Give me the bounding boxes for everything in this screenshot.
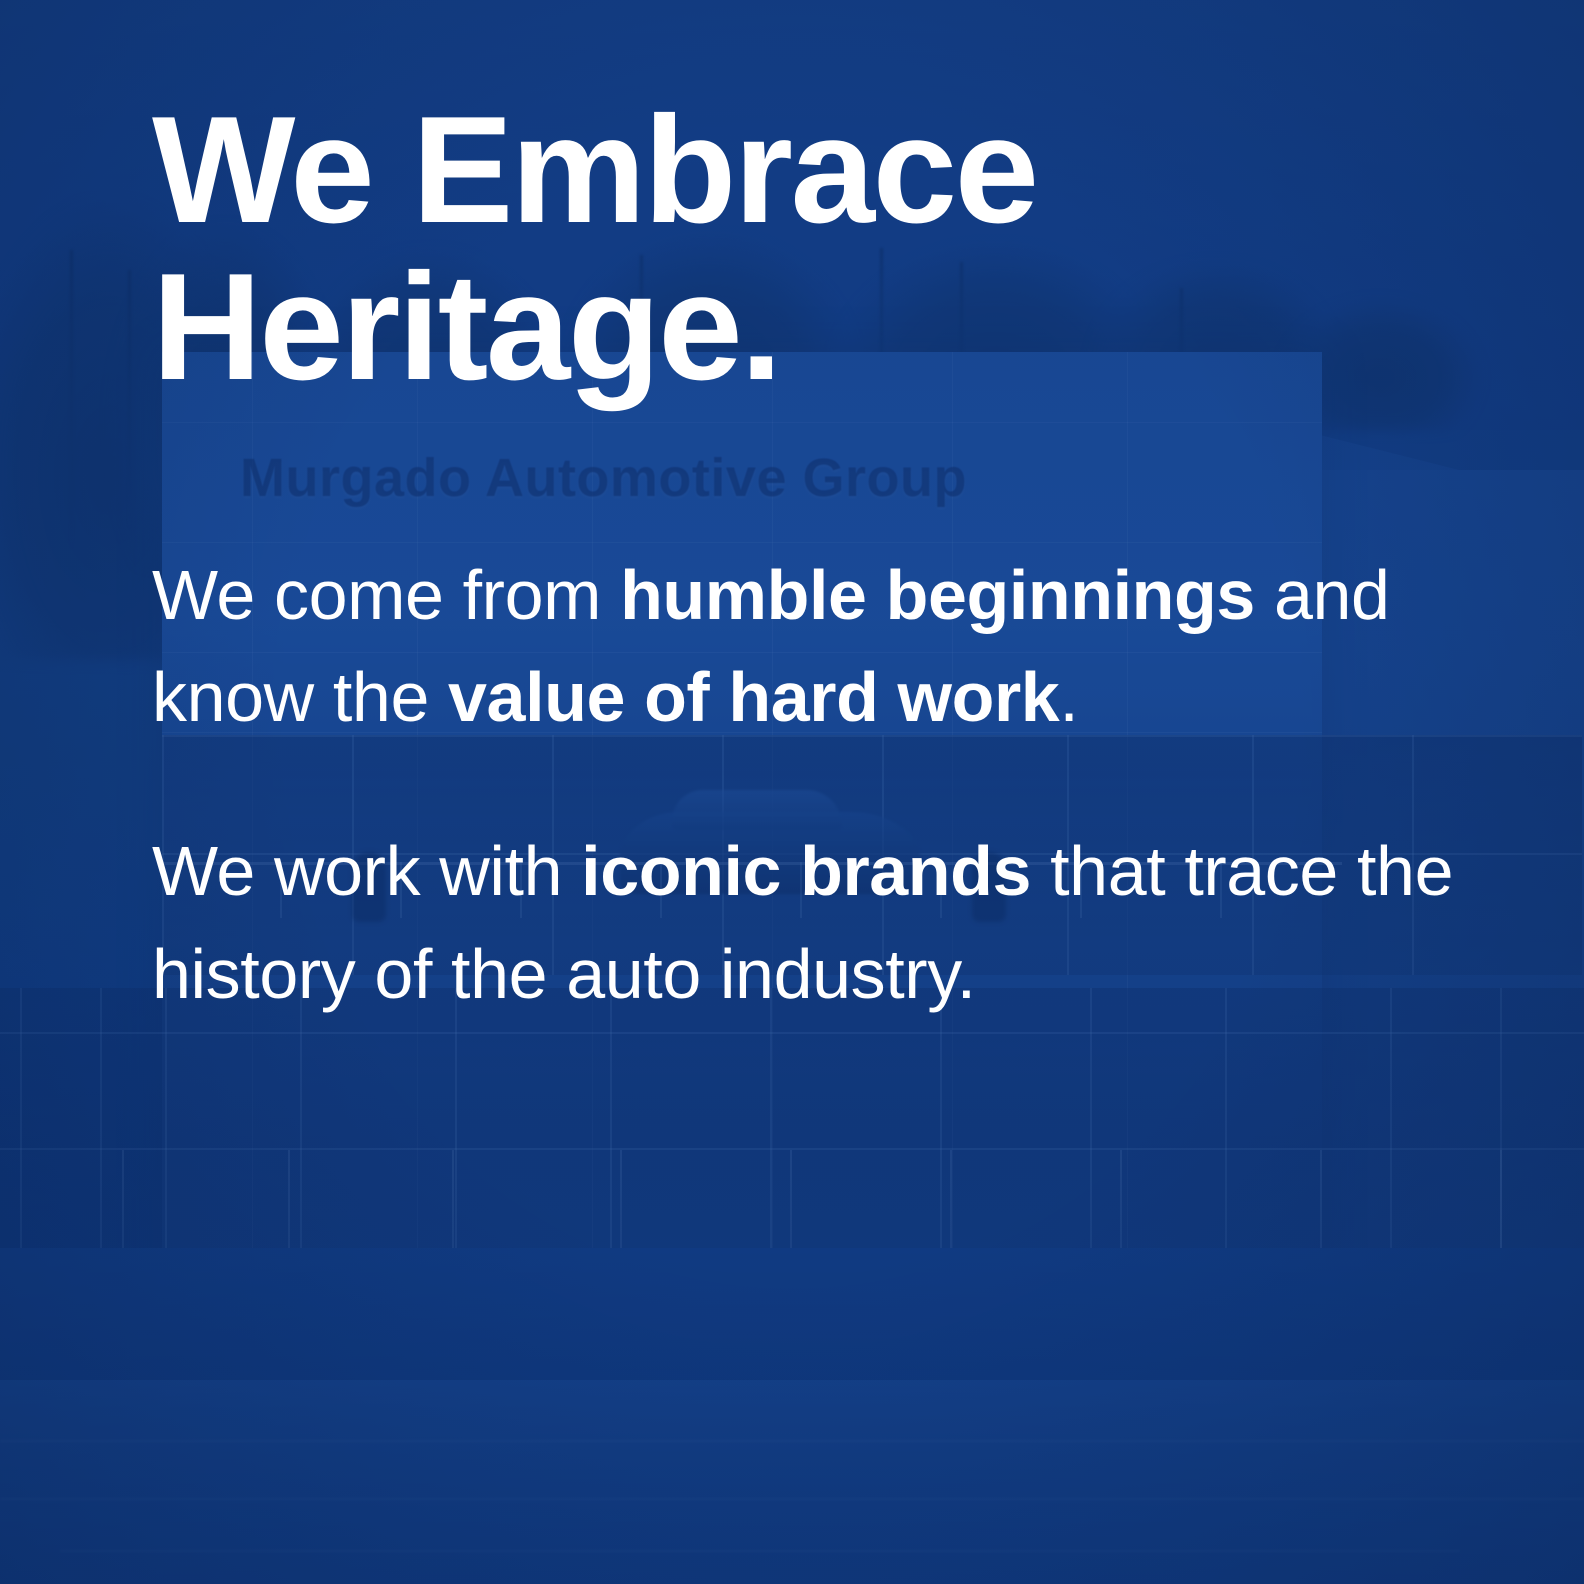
p2-bold-iconic-brands: iconic brands — [581, 832, 1031, 910]
p1-text-1: We come from — [152, 556, 620, 634]
paragraph-iconic-brands: We work with iconic brands that trace th… — [152, 820, 1482, 1024]
slide-content: We Embrace Heritage. We come from humble… — [0, 0, 1584, 1584]
p1-text-3: . — [1059, 658, 1078, 736]
page-title: We Embrace Heritage. — [152, 92, 1432, 405]
p2-text-1: We work with — [152, 832, 581, 910]
p1-bold-value-of-hard-work: value of hard work — [448, 658, 1059, 736]
body-copy: We come from humble beginnings and know … — [152, 544, 1482, 1025]
heritage-slide: Murgado Automotive Group — [0, 0, 1584, 1584]
headline-line-2: Heritage. — [152, 242, 780, 412]
paragraph-humble-beginnings: We come from humble beginnings and know … — [152, 544, 1482, 748]
headline-line-1: We Embrace — [152, 85, 1037, 255]
p1-bold-humble-beginnings: humble beginnings — [620, 556, 1255, 634]
